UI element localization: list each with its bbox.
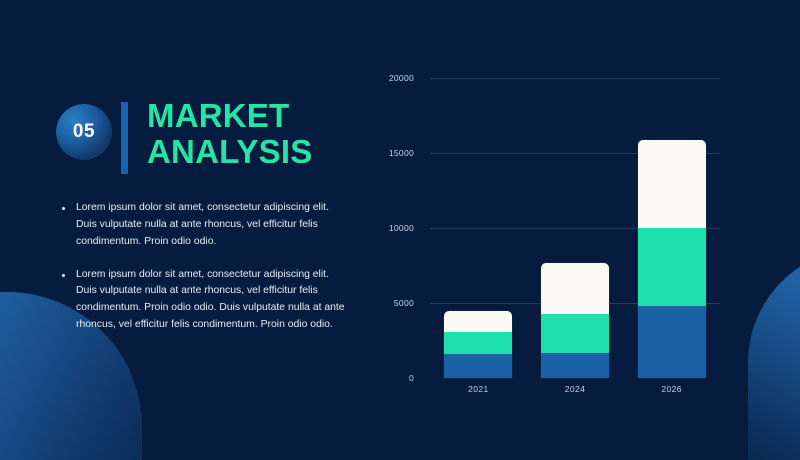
chart-bar[interactable]	[444, 311, 512, 379]
chart-bar-segment	[638, 228, 706, 306]
heading-row: 05 MARKET ANALYSIS	[56, 98, 312, 174]
y-axis-tick-label: 15000	[294, 148, 414, 158]
title-accent-rule	[121, 102, 128, 174]
chart-bar-segment	[541, 353, 609, 378]
y-axis-tick-label: 20000	[294, 73, 414, 83]
chart-bar-segment	[638, 306, 706, 378]
y-axis-tick-label: 0	[294, 373, 414, 383]
decorative-shape-bottom-right	[748, 248, 800, 460]
chart-bar-segment	[541, 263, 609, 314]
chart-bar[interactable]	[541, 263, 609, 379]
x-axis-tick-label: 2024	[527, 384, 624, 394]
page-title: MARKET ANALYSIS	[147, 98, 312, 169]
y-axis-tick-label: 5000	[294, 298, 414, 308]
section-number-badge: 05	[56, 104, 112, 160]
chart-bar-segment	[444, 332, 512, 355]
chart-bar-segment	[541, 314, 609, 354]
chart-bar[interactable]	[638, 140, 706, 379]
chart-gridline	[430, 78, 720, 79]
chart-plot-area: 05000100001500020000202120242026	[430, 78, 720, 378]
chart-bar-segment	[444, 311, 512, 332]
section-number-label: 05	[56, 104, 112, 160]
x-axis-tick-label: 2021	[430, 384, 527, 394]
slide-root: 05 MARKET ANALYSIS Lorem ipsum dolor sit…	[0, 0, 800, 460]
chart-bar-segment	[638, 140, 706, 229]
y-axis-tick-label: 10000	[294, 223, 414, 233]
stacked-bar-chart: 05000100001500020000202120242026	[392, 62, 732, 392]
x-axis-tick-label: 2026	[623, 384, 720, 394]
chart-bar-segment	[444, 354, 512, 378]
